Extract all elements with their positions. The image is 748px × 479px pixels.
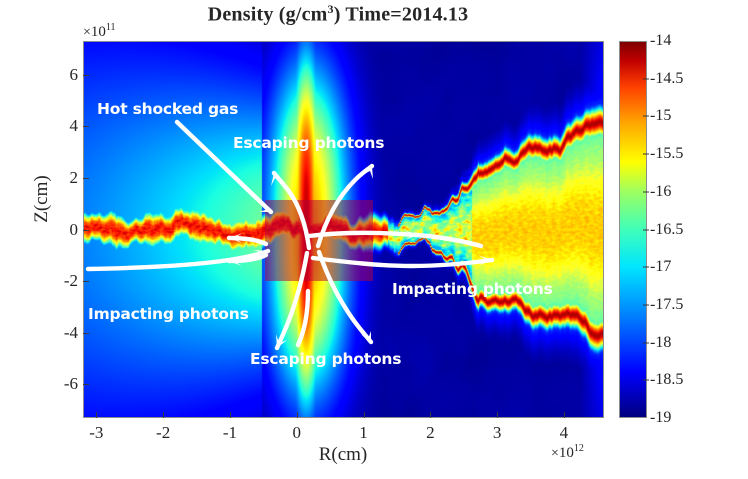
y-tick-label: -2 xyxy=(44,271,78,291)
x-tick-label: 0 xyxy=(277,423,317,443)
x-tick-mark xyxy=(497,412,498,418)
y-tick-mark xyxy=(83,384,89,385)
density-figure: Density (g/cm3) Time=2014.13 ×1011 ×1012… xyxy=(0,0,748,479)
annotation-impacting-photons-left: Impacting photons xyxy=(88,305,249,323)
x-tick-mark xyxy=(364,412,365,418)
x-exp-times: × xyxy=(551,446,559,461)
colorbar-tick-label: -16 xyxy=(650,183,671,201)
x-tick-label: 1 xyxy=(344,423,384,443)
colorbar-tick-label: -14.5 xyxy=(650,70,683,88)
annotation-escaping-photons-top: Escaping photons xyxy=(233,134,384,152)
x-tick-label: -1 xyxy=(210,423,250,443)
colorbar-tick-label: -18 xyxy=(650,334,671,352)
y-tick-label: -4 xyxy=(44,323,78,343)
x-tick-mark xyxy=(564,412,565,418)
y-axis-exponent: ×1011 xyxy=(83,22,116,41)
x-tick-mark xyxy=(430,412,431,418)
colorbar-tick-label: -17 xyxy=(650,258,671,276)
y-tick-mark xyxy=(83,178,89,179)
x-tick-mark xyxy=(96,412,97,418)
x-tick-label: -3 xyxy=(76,423,116,443)
annotation-hot-shocked-gas: Hot shocked gas xyxy=(97,100,238,118)
y-tick-mark xyxy=(83,281,89,282)
y-exp-base: 10 xyxy=(91,24,106,40)
x-tick-mark xyxy=(297,412,298,418)
colorbar-tick-mark xyxy=(643,304,649,305)
colorbar-tick-mark xyxy=(643,154,649,155)
colorbar-tick-mark xyxy=(643,380,649,381)
y-tick-label: 4 xyxy=(44,116,78,136)
annotation-impacting-photons-right: Impacting photons xyxy=(392,280,553,298)
x-tick-mark xyxy=(230,412,231,418)
colorbar-ticklabels: -14-14.5-15-15.5-16-16.5-17-17.5-18-18.5… xyxy=(650,41,710,418)
colorbar-tick-label: -18.5 xyxy=(650,371,683,389)
colorbar-tick-mark xyxy=(643,229,649,230)
annotation-escaping-photons-bottom: Escaping photons xyxy=(250,350,401,368)
y-tick-mark xyxy=(83,333,89,334)
colorbar-tick-label: -15 xyxy=(650,107,671,125)
colorbar-tick-mark xyxy=(643,342,649,343)
x-axis-label: R(cm) xyxy=(283,444,403,466)
y-tick-mark xyxy=(83,230,89,231)
x-tick-label: 2 xyxy=(410,423,450,443)
y-axis-label: Z(cm) xyxy=(31,139,53,259)
colorbar-tick-label: -19 xyxy=(650,409,671,427)
y-tick-mark xyxy=(83,75,89,76)
figure-title: Density (g/cm3) Time=2014.13 xyxy=(148,2,528,27)
y-exp-times: × xyxy=(83,25,91,40)
figure-title-tail: ) Time=2014.13 xyxy=(334,4,469,26)
x-tick-label: 3 xyxy=(477,423,517,443)
x-tick-mark xyxy=(163,412,164,418)
figure-title-main: Density (g/cm xyxy=(208,4,328,26)
y-tick-label: -6 xyxy=(44,374,78,394)
y-exp-power: 11 xyxy=(106,22,116,33)
colorbar-tick-mark xyxy=(643,191,649,192)
x-tick-label: 4 xyxy=(544,423,584,443)
colorbar-tick-label: -17.5 xyxy=(650,296,683,314)
y-tick-mark xyxy=(83,126,89,127)
colorbar-tick-label: -16.5 xyxy=(650,221,683,239)
colorbar-tick-mark xyxy=(643,267,649,268)
colorbar-tick-mark xyxy=(643,116,649,117)
colorbar-tick-mark xyxy=(643,78,649,79)
x-tick-label: -2 xyxy=(143,423,183,443)
colorbar-tick-label: -14 xyxy=(650,32,671,50)
colorbar-tick-label: -15.5 xyxy=(650,145,683,163)
y-tick-label: 6 xyxy=(44,65,78,85)
x-exp-base: 10 xyxy=(559,445,574,461)
